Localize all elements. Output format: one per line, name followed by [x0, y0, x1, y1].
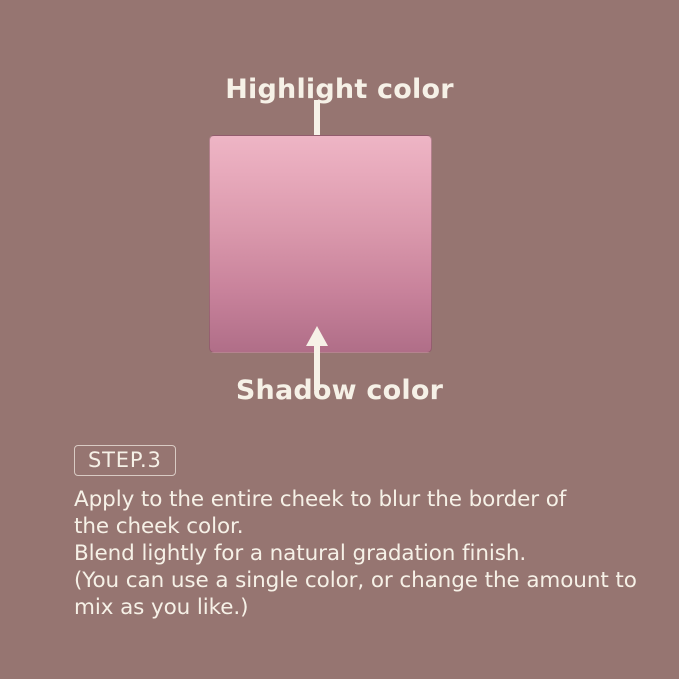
instruction-line: Apply to the entire cheek to blur the bo…	[74, 486, 634, 513]
instruction-line: (You can use a single color, or change t…	[74, 567, 634, 594]
instruction-line: Blend lightly for a natural gradation fi…	[74, 540, 634, 567]
step-badge: STEP.3	[74, 445, 176, 476]
instruction-text: Apply to the entire cheek to blur the bo…	[74, 486, 634, 621]
instruction-line: the cheek color.	[74, 513, 634, 540]
instruction-line: mix as you like.)	[74, 594, 634, 621]
highlight-color-label: Highlight color	[0, 76, 679, 103]
gradient-swatch	[209, 135, 432, 353]
shadow-color-label: Shadow color	[0, 377, 679, 404]
instruction-graphic: Highlight color Shadow color STEP.3 Appl…	[0, 0, 679, 679]
